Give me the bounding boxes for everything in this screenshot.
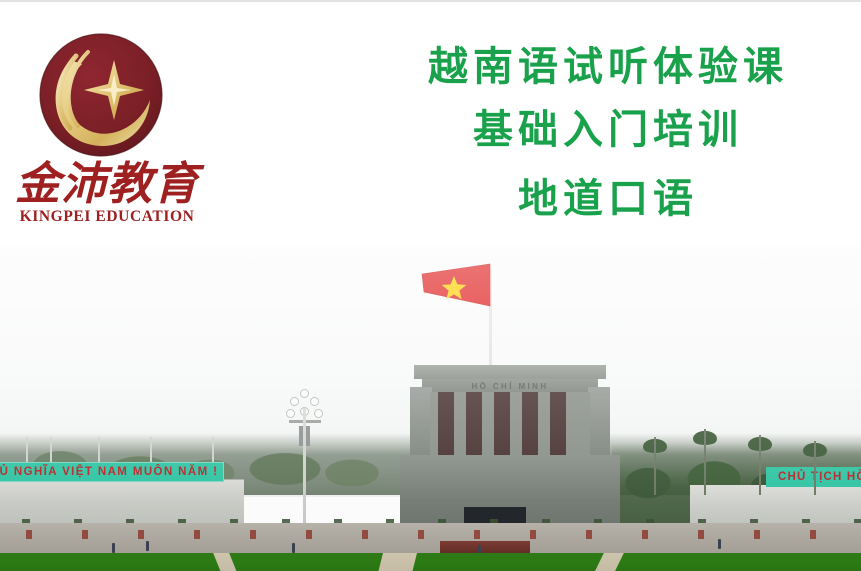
palm-tree xyxy=(800,441,830,495)
banner-left-slogan: Ủ NGHĨA VIỆT NAM MUÔN NĂM ! xyxy=(0,462,224,482)
street-lamp-icon xyxy=(287,390,323,538)
headline-block: 越南语试听体验课 基础入门培训 地道口语 xyxy=(398,38,818,234)
palm-tree xyxy=(690,429,720,495)
left-flagpoles xyxy=(0,437,240,465)
pedestrian xyxy=(718,539,721,549)
pedestrian xyxy=(112,543,115,553)
mausoleum-cornice xyxy=(414,365,606,379)
pedestrian xyxy=(292,543,295,553)
mausoleum-colonnade xyxy=(430,392,590,455)
crescent-star-emblem-icon xyxy=(36,30,166,160)
plaza-planter-row xyxy=(0,530,861,539)
hero-photo: Ủ NGHĨA VIỆT NAM MUÔN NĂM ! CHỦ TỊCH HỒ xyxy=(0,247,861,571)
header-band: 金沛教育 KINGPEI EDUCATION 越南语试听体验课 基础入门培训 地… xyxy=(0,2,861,247)
brand-logo-lockup[interactable]: 金沛教育 KINGPEI EDUCATION xyxy=(14,30,200,228)
brand-name-english: KINGPEI EDUCATION xyxy=(14,208,200,226)
headline-line-3: 地道口语 xyxy=(398,164,818,234)
lawn-path xyxy=(377,553,417,571)
ho-chi-minh-mausoleum: HỒ CHÍ MINH xyxy=(400,365,620,537)
mausoleum-left-wing xyxy=(410,387,432,455)
headline-line-2: 基础入门培训 xyxy=(398,96,818,164)
brand-name-chinese: 金沛教育 xyxy=(14,158,200,210)
vietnam-flag-icon xyxy=(420,262,492,324)
palm-tree xyxy=(640,437,670,495)
headline-line-1: 越南语试听体验课 xyxy=(398,38,818,96)
mausoleum-right-wing xyxy=(588,387,610,455)
hero-photo-scene: Ủ NGHĨA VIỆT NAM MUÔN NĂM ! CHỦ TỊCH HỒ xyxy=(0,247,861,571)
lawn xyxy=(0,553,861,571)
palm-tree xyxy=(745,435,775,495)
poster-canvas: 金沛教育 KINGPEI EDUCATION 越南语试听体验课 基础入门培训 地… xyxy=(0,0,861,571)
pedestrian xyxy=(146,541,149,551)
